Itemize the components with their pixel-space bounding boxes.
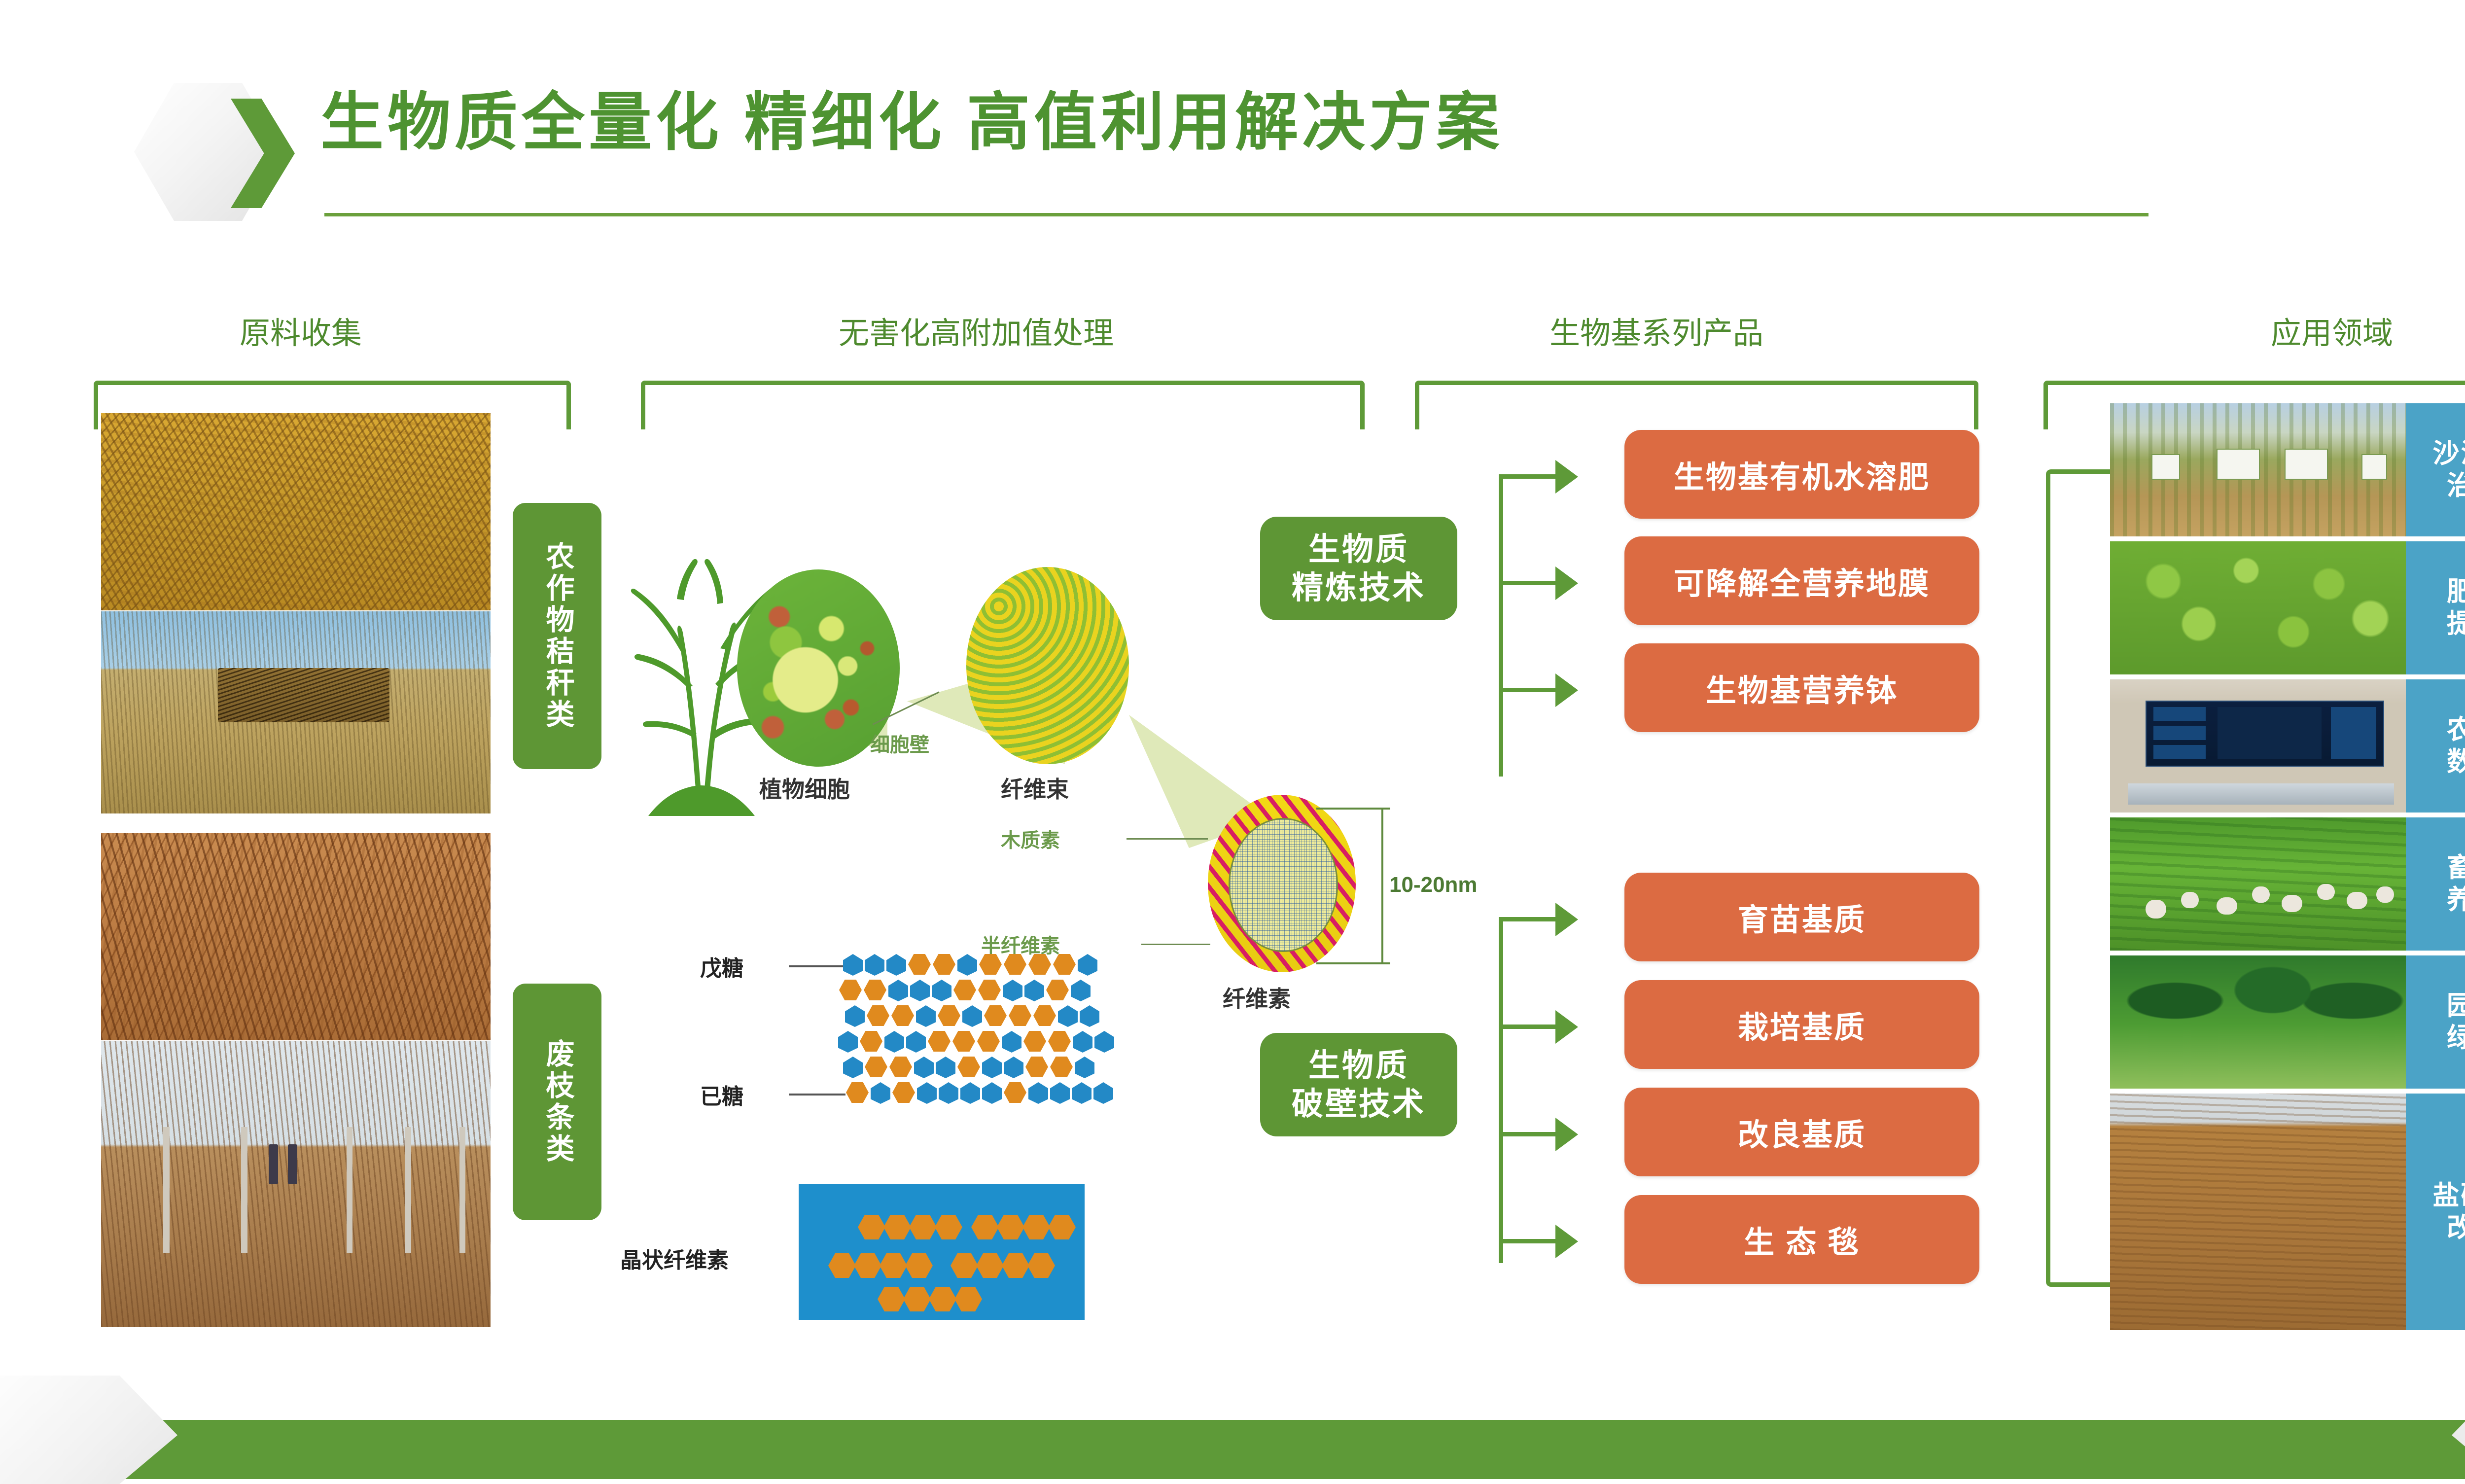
tech-box-line1: 生物质 [1308, 530, 1409, 568]
application-label-line2: 改良 [2447, 1212, 2465, 1244]
application-label-line1: 盐碱地 [2433, 1180, 2465, 1212]
label-lignin: 木质素 [1001, 824, 1060, 853]
arrow-branch-breaking-1 [1499, 917, 1558, 921]
product-label: 改良基质 [1738, 1110, 1866, 1154]
arrow-branch-breaking-4 [1499, 1239, 1558, 1243]
label-cellulose: 纤维素 [1223, 981, 1291, 1014]
tech-box-line1: 生物质 [1308, 1046, 1409, 1085]
worker-figure-icon [269, 1144, 278, 1184]
application-label-line2: 绿化 [2447, 1022, 2465, 1054]
arrow-branch-breaking-2 [1499, 1025, 1558, 1029]
product-box-organic-water-soluble-fertilizer[interactable]: 生物基有机水溶肥 [1624, 430, 1979, 519]
sugar-row [839, 980, 1091, 1001]
application-label-line2: 治理 [2447, 470, 2465, 502]
footer-bar [0, 1420, 2465, 1479]
photo-saline-alkali-land [2110, 1094, 2406, 1330]
trellis-post-icon [405, 1127, 411, 1253]
sugar-row [843, 954, 1097, 976]
section-title-products: 生物基系列产品 [1400, 308, 1913, 353]
label-plant-cell: 植物细胞 [759, 772, 850, 804]
photo-desertification-control [2110, 403, 2406, 536]
label-hexose: 已糖 [700, 1079, 743, 1110]
application-label-fertility: 肥力 提升 [2406, 541, 2465, 674]
arrow-head-refining-3 [1555, 673, 1578, 707]
application-row-desertification[interactable]: 沙漠化 治理 [2110, 403, 2465, 536]
trellis-post-icon [163, 1127, 170, 1253]
application-label-desertification: 沙漠化 治理 [2406, 403, 2465, 536]
lignin-leader-line [1127, 838, 1208, 840]
product-box-improvement-substrate[interactable]: 改良基质 [1624, 1088, 1979, 1176]
raw-material-tag-crop-straw[interactable]: 农作物秸秆类 [513, 503, 601, 769]
application-label-livestock: 畜牧 养殖 [2406, 817, 2465, 951]
console-desk-shape [2128, 783, 2394, 805]
crystalline-cellulose-diagram [799, 1184, 1085, 1320]
application-label-line1: 园林 [2447, 990, 2465, 1022]
nanofibril-cross-section [1208, 795, 1356, 972]
sugar-row [845, 1005, 1099, 1027]
fiber-bundle-illustration [966, 567, 1129, 764]
section-title-applications: 应用领域 [2135, 308, 2465, 353]
application-row-fertility[interactable]: 肥力 提升 [2110, 541, 2465, 674]
product-label: 栽培基质 [1738, 1002, 1866, 1047]
application-label-line2: 提升 [2447, 608, 2465, 640]
application-label-line1: 农业 [2447, 714, 2465, 746]
product-box-biobased-nutrition-pot[interactable]: 生物基营养钵 [1624, 643, 1979, 732]
dashboard-screen-icon [2146, 701, 2384, 767]
product-label: 育苗基质 [1738, 895, 1866, 939]
worker-figure-icon [288, 1144, 297, 1184]
photo-pruned-branches [101, 833, 491, 1040]
cellulose-core-shape [1229, 818, 1338, 952]
application-label-line2: 数据 [2447, 746, 2465, 778]
application-row-agri-data[interactable]: 农业 数据 [2110, 679, 2465, 813]
hexose-leader-line [789, 1094, 845, 1095]
arrow-trunk-refining [1499, 476, 1503, 777]
arrow-branch-breaking-3 [1499, 1132, 1558, 1136]
application-label-line1: 沙漠化 [2433, 438, 2465, 470]
tech-box-line2: 破壁技术 [1292, 1085, 1426, 1123]
application-label-line2: 养殖 [2447, 884, 2465, 916]
straw-bale-shape [218, 668, 389, 723]
title-underline-divider [324, 213, 2148, 216]
raw-material-tag-label: 农作物秸秆类 [542, 541, 572, 731]
arrow-branch-refining-2 [1499, 581, 1558, 585]
photo-landscape-greening [2110, 955, 2406, 1089]
hemicellulose-leader-line [1141, 944, 1210, 945]
product-label: 生 态 毯 [1744, 1217, 1860, 1262]
slide-canvas: 生物质全量化 精细化 高值利用解决方案 原料收集 无害化高附加值处理 生物基系列… [0, 0, 2465, 1479]
raw-material-tag-label: 废枝条类 [542, 1039, 572, 1165]
product-box-ecological-blanket[interactable]: 生 态 毯 [1624, 1195, 1979, 1284]
tech-box-line2: 精炼技术 [1292, 568, 1426, 607]
photo-corn-straw-field [101, 413, 491, 610]
raw-material-tag-waste-branch[interactable]: 废枝条类 [513, 984, 601, 1220]
application-row-livestock[interactable]: 畜牧 养殖 [2110, 817, 2465, 951]
photo-straw-bale-field [101, 611, 491, 813]
application-label-landscaping: 园林 绿化 [2406, 955, 2465, 1089]
section-title-processing: 无害化高附加值处理 [700, 308, 1252, 353]
arrow-branch-refining-3 [1499, 688, 1558, 692]
tech-box-cell-wall-breaking[interactable]: 生物质 破壁技术 [1260, 1033, 1457, 1136]
pentose-leader-line [789, 965, 843, 967]
photo-cabbage-field [2110, 541, 2406, 674]
sugar-row [843, 1057, 1094, 1078]
tech-box-refining[interactable]: 生物质 精炼技术 [1260, 517, 1457, 620]
bracket-processing [641, 381, 1365, 429]
application-row-landscaping[interactable]: 园林 绿化 [2110, 955, 2465, 1089]
arrow-head-breaking-1 [1555, 903, 1578, 936]
trellis-post-icon [459, 1127, 466, 1253]
photo-sheep-grazing [2110, 817, 2406, 951]
sugar-row [846, 1082, 1113, 1104]
product-box-seedling-substrate[interactable]: 育苗基质 [1624, 873, 1979, 961]
application-row-saline-alkali[interactable]: 盐碱地 改良 [2110, 1094, 2465, 1330]
application-label-line1: 畜牧 [2447, 852, 2465, 884]
label-pentose: 戊糖 [700, 951, 743, 982]
product-label: 可降解全营养地膜 [1674, 559, 1930, 603]
product-box-cultivation-substrate[interactable]: 栽培基质 [1624, 980, 1979, 1069]
product-label: 生物基营养钵 [1706, 666, 1898, 710]
label-nanofibril-dimension: 10-20nm [1389, 873, 1478, 897]
photo-orchard-pruning [101, 1041, 491, 1327]
page-title: 生物质全量化 精细化 高值利用解决方案 [320, 86, 1503, 159]
arrow-head-breaking-2 [1555, 1010, 1578, 1044]
arrow-head-breaking-4 [1555, 1225, 1578, 1258]
arrow-head-refining-2 [1555, 566, 1578, 600]
section-title-collection: 原料收集 [163, 308, 439, 353]
trellis-post-icon [347, 1127, 353, 1253]
sugar-row [838, 1031, 1114, 1053]
arrow-head-breaking-3 [1555, 1118, 1578, 1151]
product-box-degradable-nutrient-mulch-film[interactable]: 可降解全营养地膜 [1624, 536, 1979, 625]
label-crystalline-cellulose: 晶状纤维素 [620, 1242, 729, 1274]
product-label: 生物基有机水溶肥 [1674, 452, 1930, 496]
bracket-products [1415, 381, 1978, 429]
dimension-tick-bottom [1316, 962, 1390, 964]
photo-agriculture-data-center [2110, 679, 2406, 813]
dimension-tick-top [1316, 808, 1390, 810]
application-label-line1: 肥力 [2447, 576, 2465, 608]
application-label-saline-alkali: 盐碱地 改良 [2406, 1094, 2465, 1330]
arrow-head-refining-1 [1555, 460, 1578, 494]
trellis-post-icon [241, 1127, 247, 1253]
application-label-agri-data: 农业 数据 [2406, 679, 2465, 813]
sugar-chain-diagram [843, 954, 1198, 1117]
bracket-applications-left [2046, 469, 2114, 1287]
dimension-vertical-line [1381, 808, 1383, 964]
label-fiber-bundle: 纤维束 [1001, 772, 1069, 804]
arrow-branch-refining-1 [1499, 474, 1558, 479]
arrow-trunk-breaking [1499, 918, 1503, 1263]
label-cell-wall: 细胞壁 [870, 729, 929, 757]
